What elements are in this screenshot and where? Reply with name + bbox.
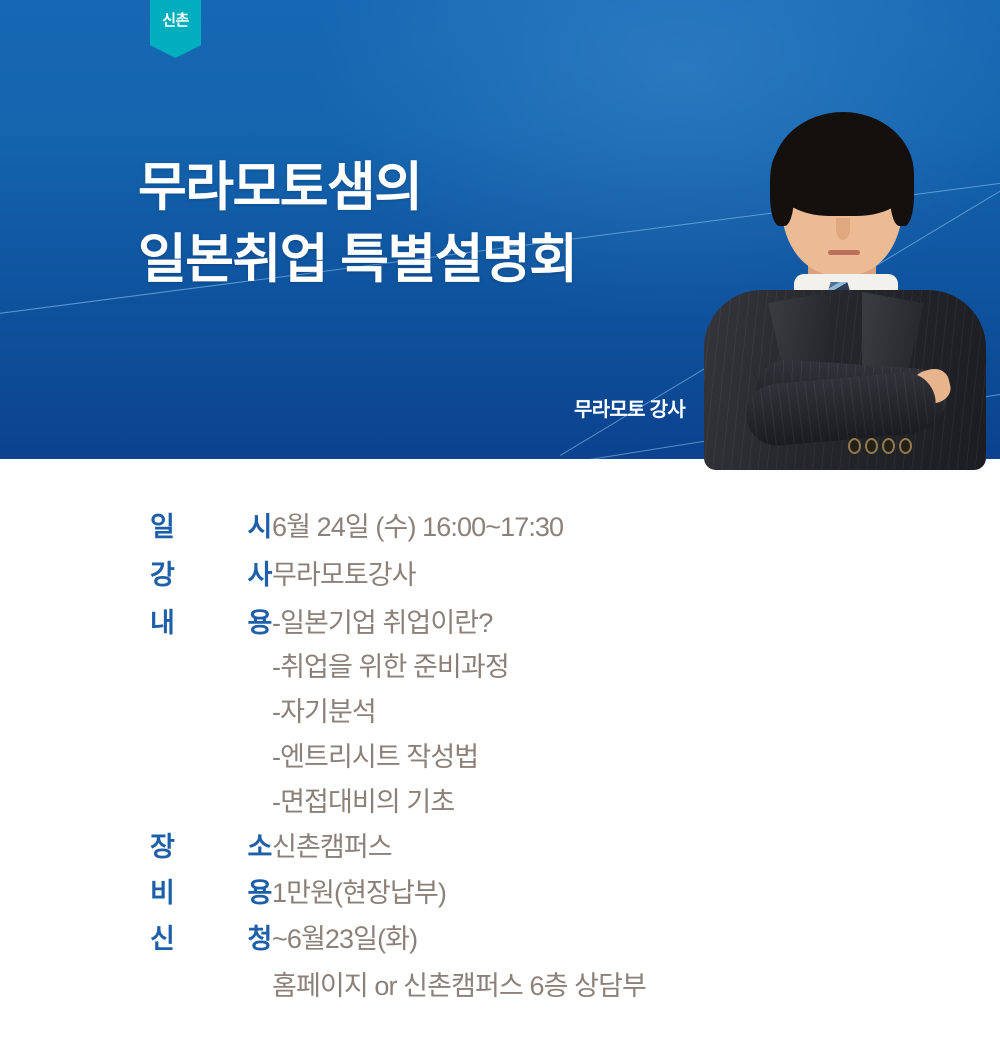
- application-note: 홈페이지 or 신촌캠퍼스 6층 상담부: [272, 964, 646, 1003]
- detail-label-datetime: 일 시: [150, 505, 272, 544]
- instructor-photo: [690, 78, 1000, 466]
- detail-label-fee: 비 용: [150, 871, 272, 910]
- detail-label-char: 비: [150, 871, 175, 910]
- detail-label-char: 장: [150, 825, 175, 864]
- detail-label-char: 강: [150, 553, 175, 592]
- detail-row-content: 내 용 -일본기업 취업이란?: [0, 601, 492, 640]
- detail-label-char: 소: [247, 825, 272, 864]
- detail-label-char: 시: [247, 505, 272, 544]
- detail-value-location: 신촌캠퍼스: [272, 825, 392, 864]
- content-item: -취업을 위한 준비과정: [272, 645, 509, 684]
- detail-value-application: ~6월23일(화): [272, 917, 417, 956]
- photo-sleeve-buttons: [848, 438, 912, 452]
- detail-label-char: 신: [150, 917, 175, 956]
- detail-label-lecturer: 강 사: [150, 553, 272, 592]
- detail-label-location: 장 소: [150, 825, 272, 864]
- title-line-1: 무라모토샘의: [138, 152, 577, 224]
- detail-row-fee: 비 용 1만원(현장납부): [0, 871, 446, 910]
- detail-label-char: 청: [247, 917, 272, 956]
- detail-label-char: 내: [150, 601, 175, 640]
- detail-row-application: 신 청 ~6월23일(화): [0, 917, 417, 956]
- detail-value-fee: 1만원(현장납부): [272, 871, 446, 910]
- lecturer-caption: 무라모토 강사: [574, 393, 685, 422]
- ribbon-label: 신촌: [162, 13, 189, 28]
- detail-label-content: 내 용: [150, 601, 272, 640]
- detail-row-lecturer: 강 사 무라모토강사: [0, 553, 416, 592]
- detail-row-location: 장 소 신촌캠퍼스: [0, 825, 392, 864]
- content-item: -면접대비의 기초: [272, 780, 454, 819]
- detail-value-lecturer: 무라모토강사: [272, 553, 416, 592]
- detail-label-application: 신 청: [150, 917, 272, 956]
- detail-label-char: 용: [247, 871, 272, 910]
- detail-row-datetime: 일 시 6월 24일 (수) 16:00~17:30: [0, 505, 563, 544]
- photo-mouth: [828, 250, 860, 255]
- detail-label-char: 사: [247, 553, 272, 592]
- detail-value-content: -일본기업 취업이란?: [272, 601, 492, 640]
- detail-value-datetime: 6월 24일 (수) 16:00~17:30: [272, 505, 563, 544]
- event-details: 일 시 6월 24일 (수) 16:00~17:30 강 사 무라모토강사 내 …: [0, 459, 1000, 1048]
- content-item: -자기분석: [272, 690, 376, 729]
- photo-hair: [772, 112, 914, 216]
- photo-nose: [836, 218, 850, 240]
- detail-label-char: 일: [150, 505, 175, 544]
- detail-label-char: 용: [247, 601, 272, 640]
- title-line-2: 일본취업 특별설명회: [138, 224, 577, 296]
- content-item: -엔트리시트 작성법: [272, 735, 478, 774]
- page-title: 무라모토샘의 일본취업 특별설명회: [138, 152, 577, 296]
- event-poster: 신촌 무라모토샘의 일본취업 특별설명회 무라모토 강사: [0, 0, 1000, 1048]
